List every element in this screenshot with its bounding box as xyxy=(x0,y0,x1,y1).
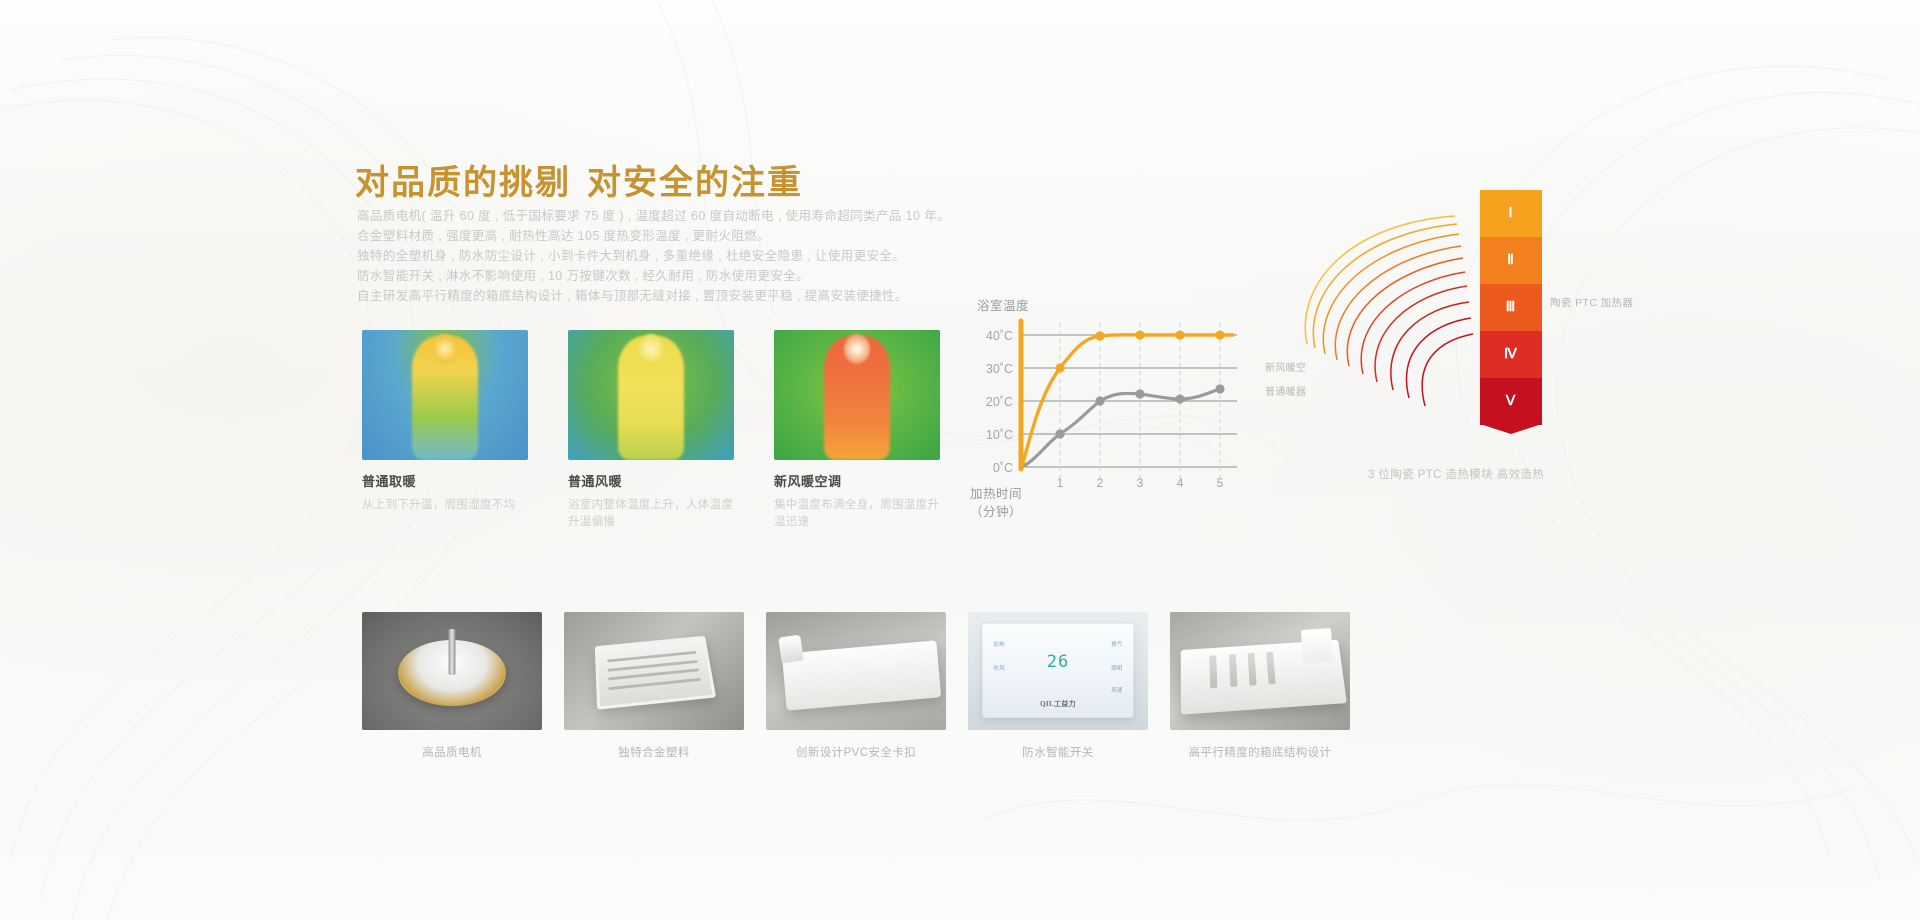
ptc-heat-rays xyxy=(1285,198,1485,458)
product-card-motor: 高品质电机 xyxy=(362,612,542,760)
headline-part-1: 对品质的挑剔 xyxy=(355,164,571,202)
thermal-image-normal-heating xyxy=(362,330,528,460)
ptc-cell-label: Ⅱ xyxy=(1507,252,1515,269)
ptc-cell-4: Ⅳ xyxy=(1480,331,1542,378)
feature-line: 独特的全塑机身 , 防水防尘设计 , 小到卡件大到机身 , 多重绝缘 , 杜绝安… xyxy=(357,246,977,266)
thermal-image-fresh-air-ac xyxy=(774,330,940,460)
chart-x-axis-label-line2: （分钟） xyxy=(970,503,1022,521)
ptc-module-caption: 3 位陶瓷 PTC 造热模块 高效造热 xyxy=(1368,466,1658,482)
svg-text:0˚C: 0˚C xyxy=(993,461,1013,475)
product-card-caption: 创新设计PVC安全卡扣 xyxy=(766,744,946,760)
thermal-card-title: 普通取暖 xyxy=(362,471,528,490)
product-card-caption: 高品质电机 xyxy=(362,744,542,760)
svg-text:4: 4 xyxy=(1177,476,1184,490)
product-card-chassis: 高平行精度的箱底结构设计 xyxy=(1170,612,1350,760)
thermal-card-title: 普通风暖 xyxy=(568,471,734,490)
switch-key-blow: 吹风 xyxy=(993,664,1004,672)
temperature-chart: 浴室温度 加热时间 （分钟） xyxy=(965,295,1315,510)
ptc-cell-5: Ⅴ xyxy=(1480,378,1542,425)
ptc-cell-2: Ⅱ xyxy=(1480,237,1542,284)
product-card-caption: 防水智能开关 xyxy=(968,744,1148,760)
switch-key-heating: 加热 xyxy=(993,640,1004,648)
ptc-cell-1: Ⅰ xyxy=(1480,190,1542,237)
product-feature-page: 对品质的挑剔对安全的注重 高品质电机( 温升 60 度 , 低于国标要求 75 … xyxy=(0,0,1920,920)
product-card-waterproof-switch: 26 加热 吹风 换气 照明 风速 QII.工益力 防水智能开关 xyxy=(968,612,1148,760)
switch-brand-logo: QII.工益力 xyxy=(1040,699,1076,709)
svg-text:40˚C: 40˚C xyxy=(986,329,1013,343)
ptc-cell-3: Ⅲ xyxy=(1480,284,1542,331)
product-card-caption: 独特合金塑料 xyxy=(564,744,744,760)
chassis-photo xyxy=(1170,612,1350,730)
chart-y-axis-label: 浴室温度 xyxy=(977,295,1029,314)
ptc-module-label: 陶瓷 PTC 加热器 xyxy=(1550,295,1633,310)
headline-part-2: 对安全的注重 xyxy=(587,164,803,202)
feature-line: 合金塑料材质 , 强度更高 , 耐热性高达 105 度热变形温度 , 更耐火阻燃… xyxy=(357,226,977,246)
feature-description-block: 高品质电机( 温升 60 度 , 低于国标要求 75 度 ) , 温度超过 60… xyxy=(357,206,977,306)
ptc-cell-stack: Ⅰ Ⅱ Ⅲ Ⅳ Ⅴ xyxy=(1480,190,1542,425)
thermal-card-title: 新风暖空调 xyxy=(774,471,940,490)
pvc-clip-photo xyxy=(766,612,946,730)
motor-photo xyxy=(362,612,542,730)
product-card-pvc-clip: 创新设计PVC安全卡扣 xyxy=(766,612,946,760)
thermal-comparison-row: 普通取暖 从上到下升温，周围湿度不均 普通风暖 浴室内整体温度上升，人体温度升温… xyxy=(362,330,940,531)
svg-text:3: 3 xyxy=(1137,476,1144,490)
feature-line: 防水智能开关 , 淋水不影响使用 , 10 万按键次数 , 经久耐用 , 防水使… xyxy=(357,266,977,286)
switch-key-ventilation: 换气 xyxy=(1111,640,1122,648)
ptc-cell-label: Ⅰ xyxy=(1508,205,1513,222)
thermal-card-description: 从上到下升温，周围湿度不均 xyxy=(362,497,528,514)
feature-line: 自主研发高平行精度的箱底结构设计 , 箱体与顶部无缝对接 , 置顶安装更平稳 ,… xyxy=(357,286,977,306)
ptc-cell-label: Ⅲ xyxy=(1506,299,1517,316)
svg-text:2: 2 xyxy=(1097,476,1104,490)
feature-line: 高品质电机( 温升 60 度 , 低于国标要求 75 度 ) , 温度超过 60… xyxy=(357,206,977,226)
svg-text:1: 1 xyxy=(1057,476,1064,490)
product-card-alloy-plastic: 独特合金塑料 xyxy=(564,612,744,760)
product-card-caption: 高平行精度的箱底结构设计 xyxy=(1170,744,1350,760)
product-photo-strip: 高品质电机 独特合金塑料 创新设计PVC安全卡扣 26 加热 吹风 xyxy=(362,612,1350,760)
ptc-cell-label: Ⅳ xyxy=(1504,346,1518,363)
thermal-image-normal-warm-air xyxy=(568,330,734,460)
ptc-heating-module-diagram: Ⅰ Ⅱ Ⅲ Ⅳ Ⅴ 陶瓷 PTC 加热器 3 位陶瓷 PTC 造热模块 高效造热 xyxy=(1360,190,1650,500)
switch-key-fan-speed: 风速 xyxy=(1111,686,1122,694)
ptc-cell-label: Ⅴ xyxy=(1506,393,1517,410)
svg-text:5: 5 xyxy=(1217,476,1224,490)
switch-temperature-display: 26 xyxy=(1047,652,1069,672)
switch-key-lighting: 照明 xyxy=(1111,664,1122,672)
thermal-card-description: 浴室内整体温度上升，人体温度升温偏慢 xyxy=(568,497,734,531)
svg-text:10˚C: 10˚C xyxy=(986,428,1013,442)
thermal-card-fresh-air-ac: 新风暖空调 集中温度布满全身，周围温度升温迅速 xyxy=(774,330,940,531)
waterproof-switch-photo: 26 加热 吹风 换气 照明 风速 QII.工益力 xyxy=(968,612,1148,730)
thermal-card-normal-heating: 普通取暖 从上到下升温，周围湿度不均 xyxy=(362,330,528,531)
chart-plot-area: 40˚C 30˚C 20˚C 10˚C 0˚C 1 2 3 4 5 xyxy=(965,313,1315,493)
thermal-card-description: 集中温度布满全身，周围温度升温迅速 xyxy=(774,497,940,531)
svg-text:30˚C: 30˚C xyxy=(986,362,1013,376)
alloy-plastic-photo xyxy=(564,612,744,730)
thermal-card-normal-warm-air: 普通风暖 浴室内整体温度上升，人体温度升温偏慢 xyxy=(568,330,734,531)
svg-text:20˚C: 20˚C xyxy=(986,395,1013,409)
page-title: 对品质的挑剔对安全的注重 xyxy=(355,155,803,204)
